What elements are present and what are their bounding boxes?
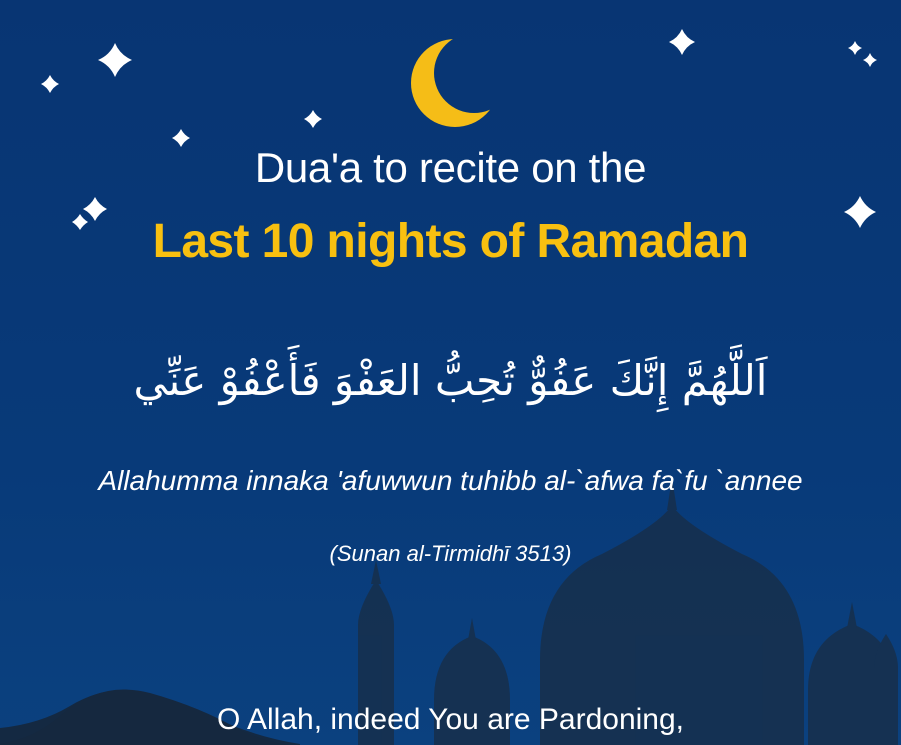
transliteration-text: Allahumma innaka 'afuwwun tuhibb al-`afw… bbox=[0, 461, 901, 501]
translation-line-1: O Allah, indeed You are Pardoning, bbox=[0, 697, 901, 744]
translation-text: O Allah, indeed You are Pardoning, You l… bbox=[0, 604, 901, 745]
poster-subtitle: Dua'a to recite on the bbox=[0, 145, 901, 191]
poster-headline: Last 10 nights of Ramadan bbox=[0, 216, 901, 269]
ramadan-dua-poster: Dua'a to recite on the Last 10 nights of… bbox=[0, 0, 901, 745]
poster-content: Dua'a to recite on the Last 10 nights of… bbox=[0, 0, 901, 745]
hadith-citation: (Sunan al-Tirmidhī 3513) bbox=[0, 540, 901, 569]
arabic-dua-text: اَللَّهُمَّ إِنَّكَ عَفُوٌّ تُحِبُّ العَ… bbox=[0, 348, 901, 413]
